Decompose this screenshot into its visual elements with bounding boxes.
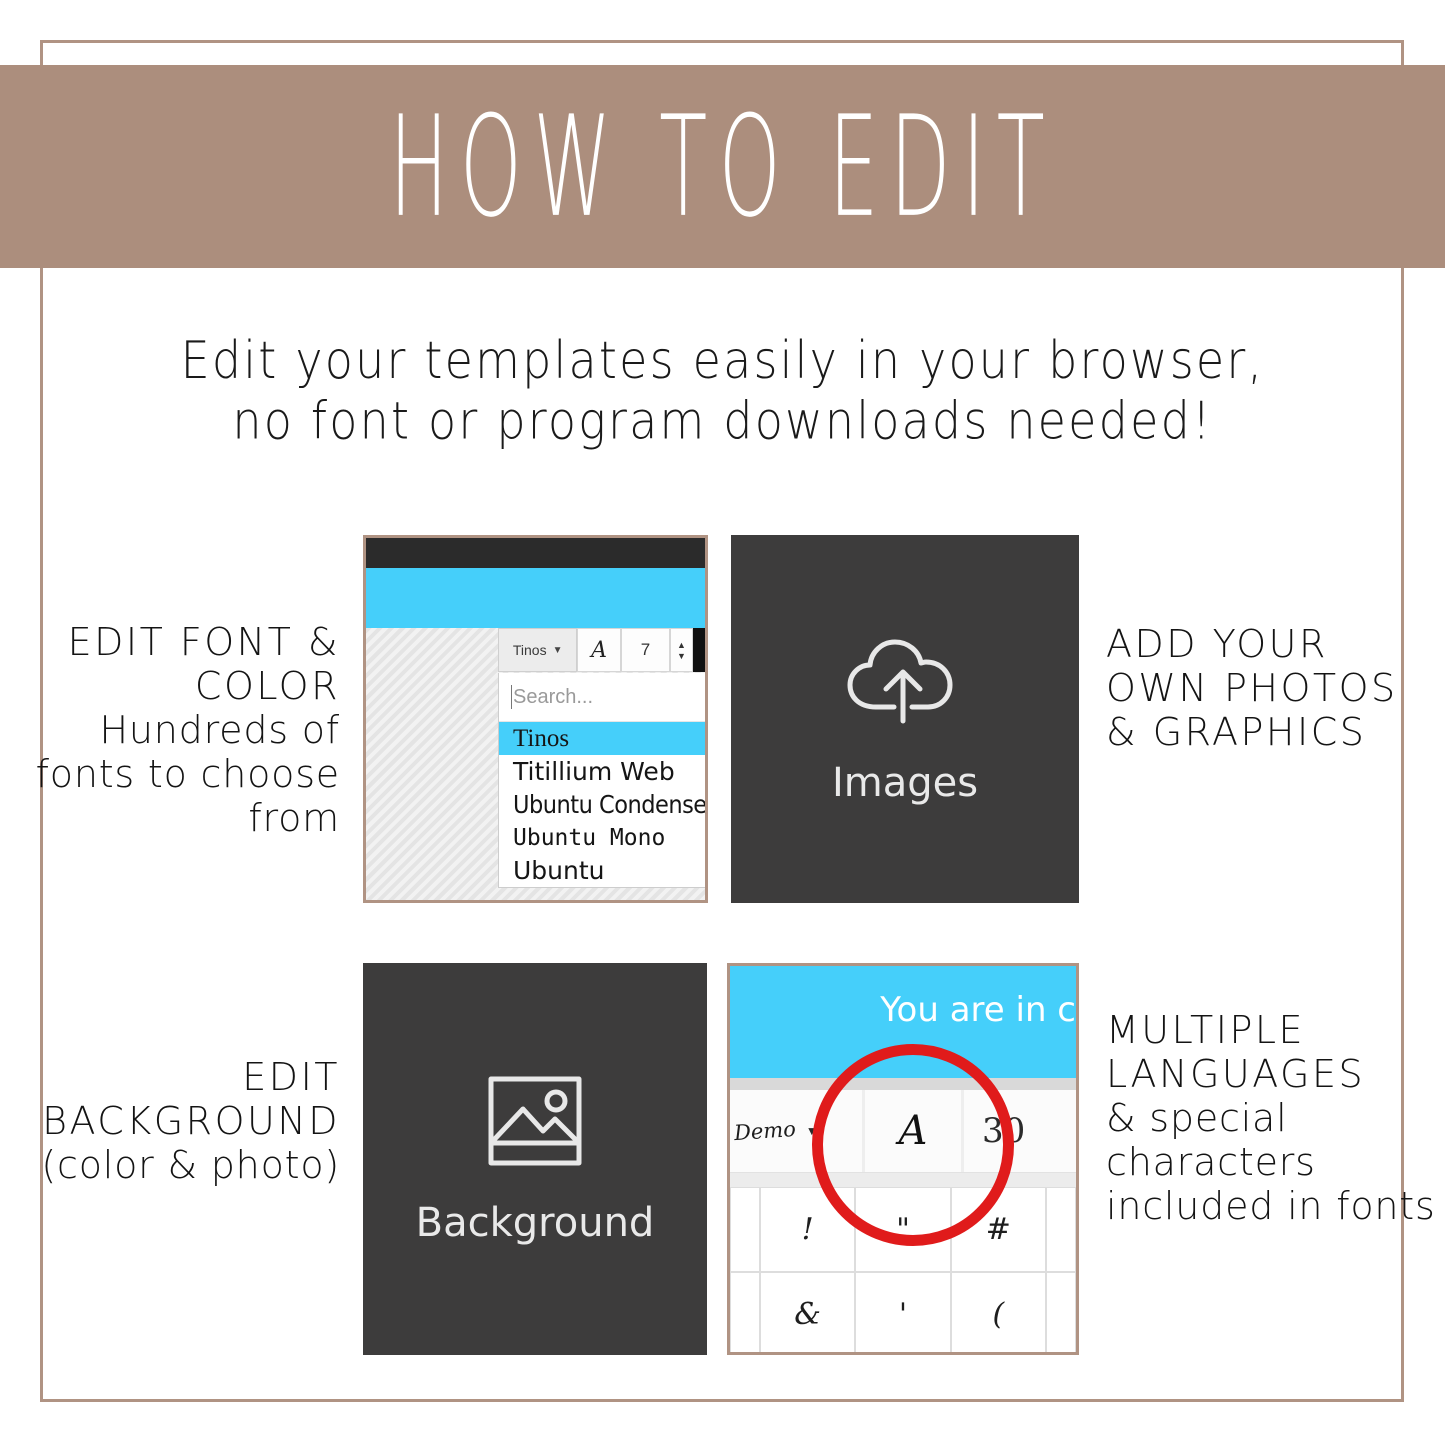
caption-edit-background-heading: EDIT BACKGROUND (10, 1055, 340, 1143)
caption-edit-font-color-heading: EDIT FONT & COLOR (10, 620, 340, 708)
background-tile-label: Background (416, 1200, 655, 1246)
caption-multiple-languages-heading: MULTIPLE LANGUAGES (1106, 1008, 1436, 1096)
char-cell-hash[interactable]: # (951, 1187, 1046, 1272)
color-swatch-button[interactable] (693, 628, 708, 672)
stepper-down-icon[interactable]: ▼ (677, 653, 686, 659)
background-tile[interactable]: Background (363, 963, 707, 1355)
font-name-dropdown[interactable]: Tinos ▼ (498, 628, 577, 672)
stepper-up-icon[interactable]: ▲ (677, 642, 686, 648)
images-tile[interactable]: Images (731, 535, 1079, 903)
font-style-button[interactable]: A (577, 628, 621, 672)
font-name-label: Demo (733, 1117, 796, 1145)
font-size-input[interactable]: 7 (621, 628, 670, 672)
images-tile-label: Images (832, 760, 978, 806)
caption-add-photos-heading: ADD YOUR OWN PHOTOS & GRAPHICS (1106, 622, 1436, 754)
font-dropdown-panel: Search... Tinos Titillium Web Ubuntu Con… (498, 673, 708, 888)
page-title: HOW TO EDIT (389, 85, 1056, 247)
font-style-button[interactable]: A (865, 1090, 964, 1172)
char-cell-apostrophe[interactable]: ' (855, 1272, 950, 1355)
subtitle-line-1: Edit your templates easily in your brows… (0, 330, 1445, 391)
chevron-down-icon: ▼ (806, 1124, 818, 1138)
caption-multiple-languages: MULTIPLE LANGUAGES & special characters … (1106, 1008, 1436, 1228)
font-toolbar: Tinos ▼ A 7 ▲ ▼ (498, 628, 708, 672)
caption-add-photos: ADD YOUR OWN PHOTOS & GRAPHICS (1106, 622, 1436, 754)
font-list-item-ubuntu-mono[interactable]: Ubuntu Mono (499, 821, 708, 854)
font-size-stepper[interactable]: ▲ ▼ (670, 628, 693, 672)
subtitle-line-2: no font or program downloads needed! (0, 391, 1445, 452)
font-list-item-tinos[interactable]: Tinos (499, 722, 708, 755)
script-a-icon: A (899, 1108, 928, 1154)
app-title-bar (366, 538, 705, 568)
character-toolbar: Demo ▼ A 30 (730, 1090, 1076, 1173)
char-cell[interactable] (730, 1187, 760, 1272)
toolbar-divider (730, 1078, 1076, 1090)
picture-icon (485, 1073, 585, 1174)
header-banner: HOW TO EDIT (0, 65, 1445, 268)
font-list-item-titillium-web[interactable]: Titillium Web (499, 755, 708, 788)
font-list-item-ubuntu[interactable]: Ubuntu (499, 854, 708, 887)
header-banner-text: You are in c (880, 990, 1076, 1030)
caption-edit-font-color-body: Hundreds of fonts to choose from (10, 708, 340, 840)
caption-multiple-languages-body: & special characters included in fonts (1106, 1096, 1436, 1228)
font-name-label: Tinos (513, 642, 547, 658)
caption-edit-font-color: EDIT FONT & COLOR Hundreds of fonts to c… (10, 620, 340, 840)
font-list-item-ubuntu-condensed[interactable]: Ubuntu Condensed (499, 788, 708, 821)
grid-divider (730, 1173, 1076, 1187)
font-size-value: 7 (641, 640, 650, 660)
char-cell[interactable] (730, 1272, 760, 1355)
chevron-down-icon: ▼ (553, 645, 563, 656)
char-cell-quote[interactable]: " (855, 1187, 950, 1272)
subtitle: Edit your templates easily in your brows… (0, 330, 1445, 452)
character-grid: ! " # & ' ( (730, 1187, 1076, 1355)
script-a-icon: A (591, 638, 607, 663)
cloud-upload-icon (842, 633, 968, 734)
char-cell-ampersand[interactable]: & (760, 1272, 855, 1355)
char-cell[interactable] (1046, 1187, 1076, 1272)
font-picker-screenshot: Tinos ▼ A 7 ▲ ▼ Search... Tinos Titilliu… (363, 535, 708, 903)
special-characters-screenshot: You are in c Demo ▼ A 30 ! " # & ' ( (727, 963, 1079, 1355)
caption-edit-background-body: (color & photo) (10, 1143, 340, 1187)
font-size-input[interactable]: 30 (964, 1090, 1076, 1172)
font-size-value: 30 (982, 1111, 1025, 1151)
caption-edit-background: EDIT BACKGROUND (color & photo) (10, 1055, 340, 1187)
char-cell-paren[interactable]: ( (951, 1272, 1046, 1355)
font-search-input[interactable]: Search... (499, 673, 708, 722)
char-cell-exclamation[interactable]: ! (760, 1187, 855, 1272)
char-cell[interactable] (1046, 1272, 1076, 1355)
app-header-bar (366, 568, 705, 628)
font-name-dropdown[interactable]: Demo ▼ (730, 1090, 865, 1172)
app-header-bar: You are in c (730, 966, 1076, 1078)
canvas-area: Tinos ▼ A 7 ▲ ▼ Search... Tinos Titilliu… (366, 628, 705, 900)
